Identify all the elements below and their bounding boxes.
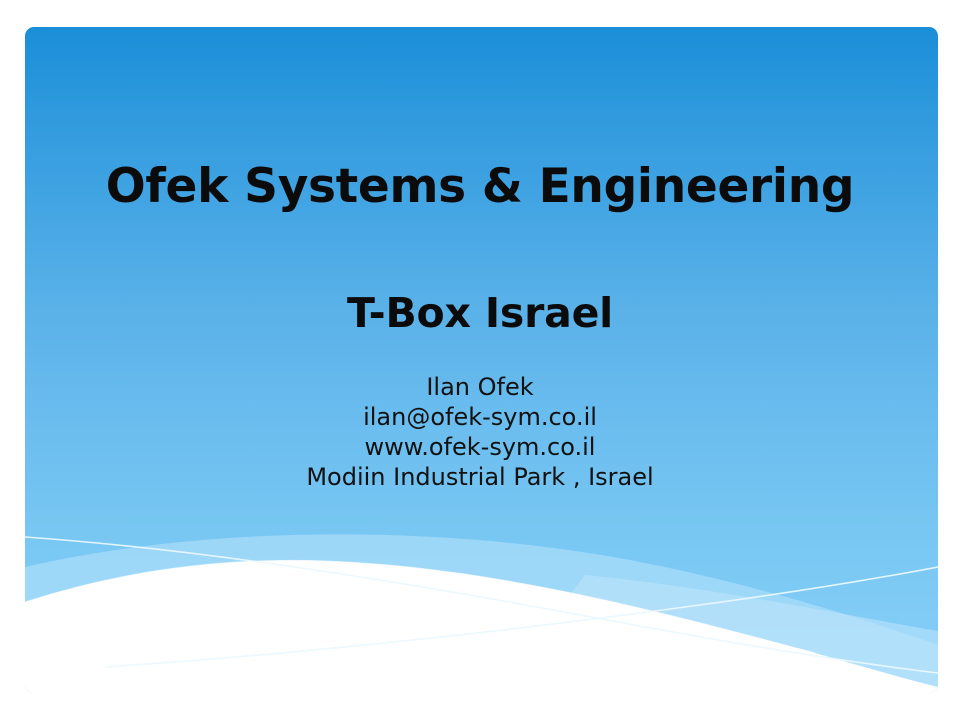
slide-subtitle: T-Box Israel <box>0 292 960 335</box>
slide-text-content: Ofek Systems & Engineering T-Box Israel … <box>0 0 960 720</box>
presentation-slide: Ofek Systems & Engineering T-Box Israel … <box>0 0 960 720</box>
contact-website[interactable]: www.ofek-sym.co.il <box>0 432 960 462</box>
contact-block: Ilan Ofek ilan@ofek-sym.co.il www.ofek-s… <box>0 372 960 492</box>
contact-name: Ilan Ofek <box>0 372 960 402</box>
contact-email[interactable]: ilan@ofek-sym.co.il <box>0 402 960 432</box>
slide-title: Ofek Systems & Engineering <box>0 162 960 211</box>
contact-address: Modiin Industrial Park , Israel <box>0 462 960 492</box>
